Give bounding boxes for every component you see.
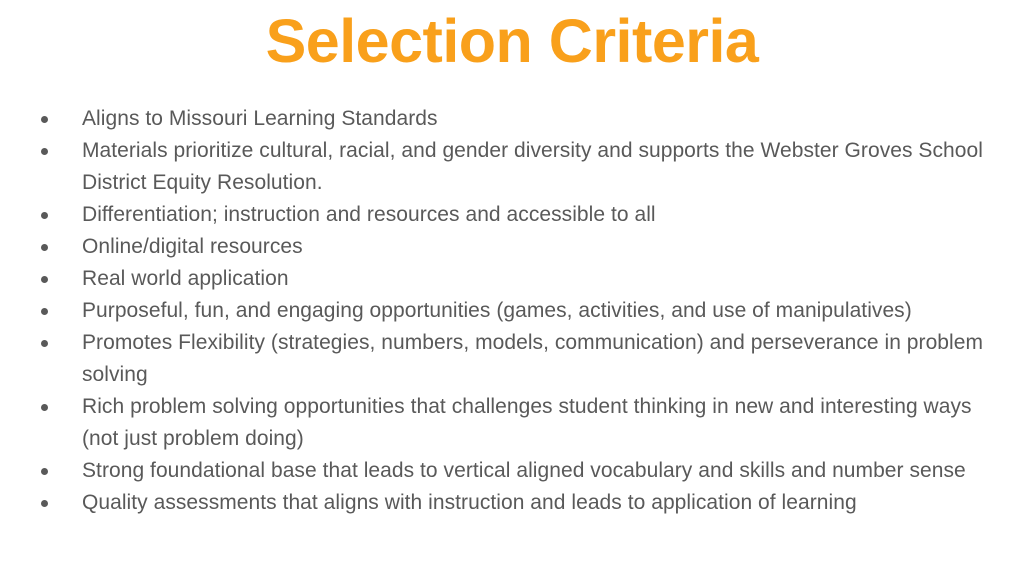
bullet-dot-icon [41,500,48,507]
list-item-label: Quality assessments that aligns with ins… [82,487,988,519]
list-item: Rich problem solving opportunities that … [36,391,988,455]
list-item: Real world application [36,263,988,295]
page-title: Selection Criteria [0,4,1024,78]
list-item: Online/digital resources [36,231,988,263]
bullet-dot-icon [41,244,48,251]
list-item: Promotes Flexibility (strategies, number… [36,327,988,391]
bullet-dot-icon [41,148,48,155]
list-item-label: Differentiation; instruction and resourc… [82,199,988,231]
list-item: Aligns to Missouri Learning Standards [36,103,988,135]
list-item: Strong foundational base that leads to v… [36,455,988,487]
list-item: Quality assessments that aligns with ins… [36,487,988,519]
bullet-dot-icon [41,468,48,475]
bullet-dot-icon [41,276,48,283]
list-item: Purposeful, fun, and engaging opportunit… [36,295,988,327]
bullet-dot-icon [41,404,48,411]
list-item: Differentiation; instruction and resourc… [36,199,988,231]
list-item: Materials prioritize cultural, racial, a… [36,135,988,199]
list-item-label: Aligns to Missouri Learning Standards [82,103,988,135]
list-item-label: Rich problem solving opportunities that … [82,391,988,455]
bullet-dot-icon [41,116,48,123]
list-item-label: Purposeful, fun, and engaging opportunit… [82,295,988,327]
bullet-dot-icon [41,340,48,347]
list-item-label: Real world application [82,263,988,295]
list-item-label: Promotes Flexibility (strategies, number… [82,327,988,391]
list-item-label: Online/digital resources [82,231,988,263]
list-item-label: Strong foundational base that leads to v… [82,455,988,487]
criteria-bullet-list: Aligns to Missouri Learning Standards Ma… [36,103,988,519]
list-item-label: Materials prioritize cultural, racial, a… [82,135,988,199]
bullet-dot-icon [41,308,48,315]
bullet-dot-icon [41,212,48,219]
presentation-slide: Selection Criteria Aligns to Missouri Le… [0,0,1024,563]
